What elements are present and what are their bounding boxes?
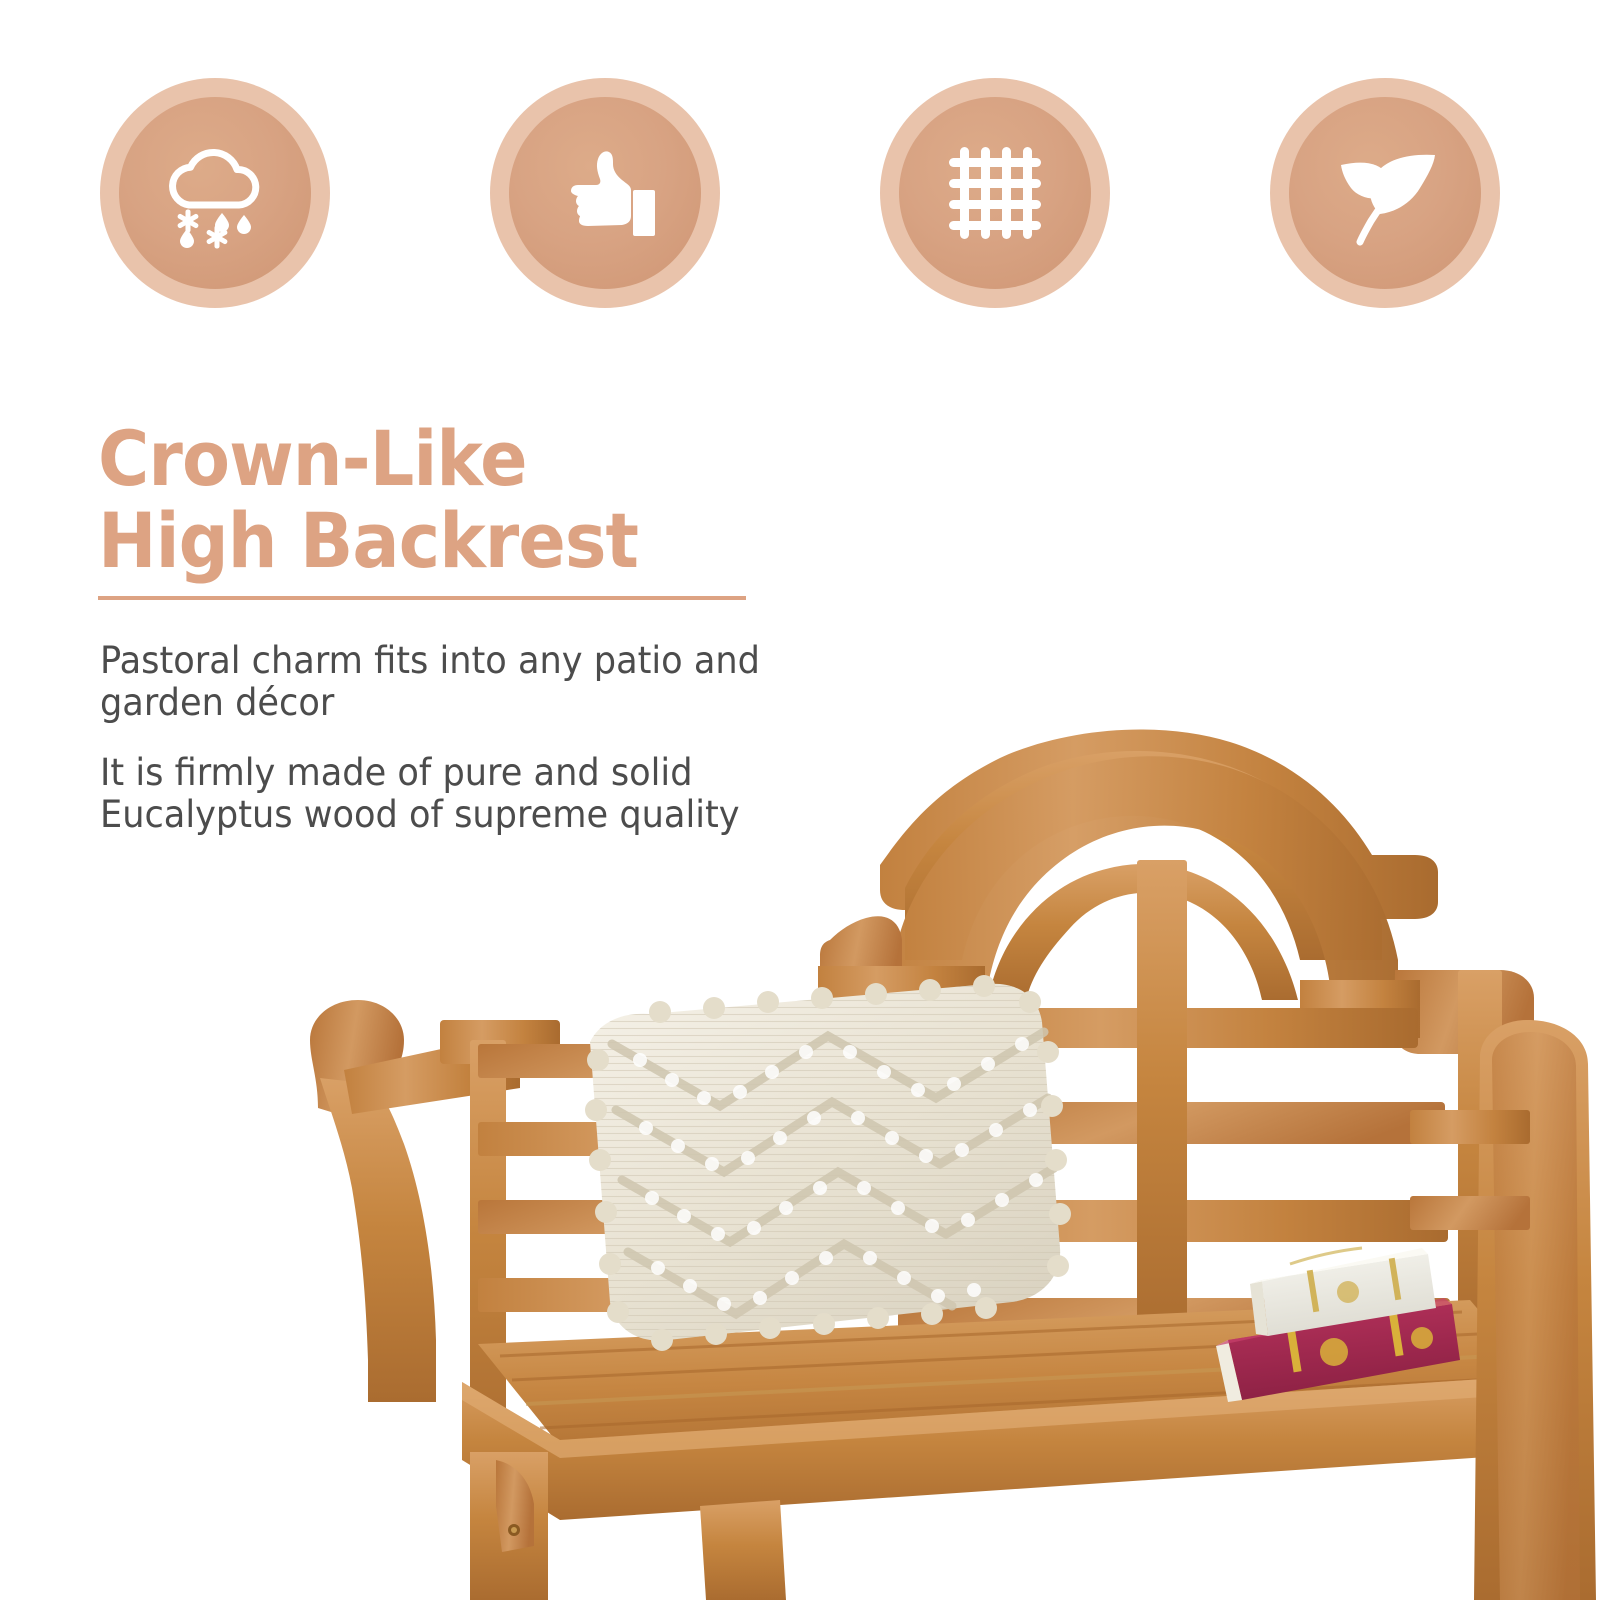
back-center-stile — [1137, 860, 1187, 1350]
feature-icon-row — [0, 68, 1600, 318]
feature-badge-quality — [490, 78, 720, 308]
product-photo — [0, 640, 1600, 1600]
bench-front-mid-leg — [700, 1500, 786, 1600]
quality-approved-icon — [509, 97, 701, 289]
feature-badge-lattice — [880, 78, 1110, 308]
feature-badge-weather — [100, 78, 330, 308]
textured-boho-throw-pillow — [585, 975, 1071, 1351]
weather-resistant-icon — [119, 97, 311, 289]
headline-line-2: High Backrest — [98, 500, 852, 582]
title-divider — [98, 596, 746, 600]
feature-badge-eco — [1270, 78, 1500, 308]
page-title: Crown-Like High Backrest — [98, 418, 852, 582]
headline-line-1: Crown-Like — [98, 414, 527, 503]
eco-natural-wood-icon — [1289, 97, 1481, 289]
slatted-lattice-icon — [899, 97, 1091, 289]
